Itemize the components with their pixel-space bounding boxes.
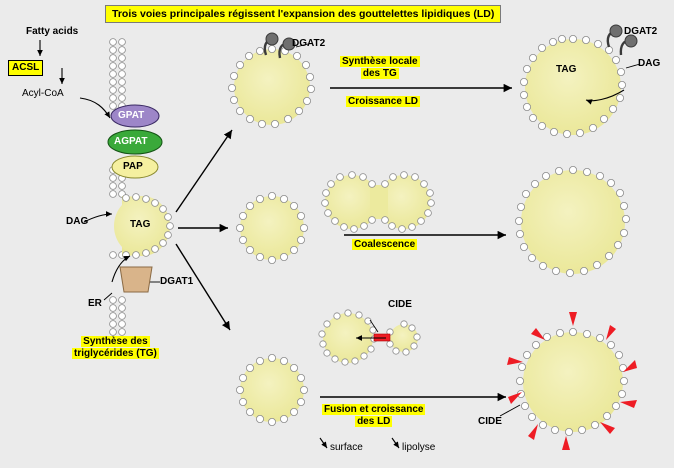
label-lipolyse: lipolyse [402, 442, 435, 454]
label-cide-top: CIDE [388, 299, 412, 311]
label-dgat2-right: DGAT2 [624, 26, 657, 38]
label-ld-fusion-line1: Fusion et croissance [322, 404, 425, 415]
ld-top-right [520, 25, 640, 138]
label-surface: surface [330, 442, 363, 454]
diagram-canvas: Trois voies principales régissent l'expa… [0, 0, 674, 468]
ld-middle-left [236, 192, 307, 263]
label-local-tg-synthesis-line1: Synthèse locale [340, 56, 420, 67]
label-local-tg-synthesis: Synthèse locale des TG [340, 56, 420, 79]
label-gpat: GPAT [118, 110, 144, 122]
label-local-tg-synthesis-line2: des TG [361, 68, 399, 79]
dgat1-enzyme [120, 267, 152, 292]
ld-bottom-cide-pair [319, 310, 420, 365]
label-dag-er: DAG [66, 216, 88, 228]
label-tg-synthesis-line2: triglycérides (TG) [72, 348, 159, 359]
label-tag-er: TAG [130, 219, 150, 231]
arrow-to-top-branch [176, 130, 232, 212]
arrow-surface-down [320, 438, 327, 448]
label-ld-fusion-line2: des LD [355, 416, 392, 427]
label-tg-synthesis-line1: Synthèse des [81, 336, 149, 347]
arrow-lipolyse-down [392, 438, 399, 448]
label-cide-right: CIDE [478, 416, 502, 428]
label-tag-top-right: TAG [556, 64, 576, 76]
ld-middle-right [515, 166, 629, 276]
label-fatty-acids: Fatty acids [26, 26, 78, 38]
label-agpat: AGPAT [114, 136, 148, 148]
label-ld-fusion-growth: Fusion et croissance des LD [322, 404, 425, 427]
ld-middle-fusing-pair [322, 172, 435, 233]
label-coalescence: Coalescence [352, 239, 417, 251]
er-membrane [110, 39, 126, 336]
label-acsl: ACSL [8, 60, 43, 76]
ld-bottom-right [500, 312, 637, 450]
ld-bottom-left [236, 354, 307, 425]
label-acyl-coa: Acyl-CoA [22, 88, 64, 100]
label-ld-growth: Croissance LD [346, 96, 420, 108]
label-dag-top-right: DAG [638, 58, 660, 70]
label-pap: PAP [123, 161, 143, 173]
label-dgat1: DGAT1 [160, 276, 193, 288]
label-er: ER [88, 298, 102, 310]
label-dgat2-left: DGAT2 [292, 38, 325, 50]
label-tg-synthesis: Synthèse des triglycérides (TG) [72, 336, 159, 359]
